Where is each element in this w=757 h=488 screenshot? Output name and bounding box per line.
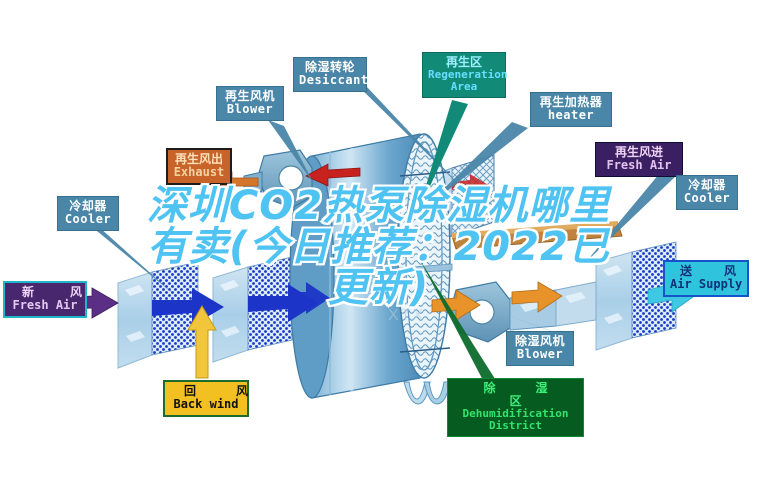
- label-regeneration-fresh-air-in: 再生风进 Fresh Air: [595, 142, 683, 177]
- label-regeneration-blower: 再生风机 Blower: [216, 86, 284, 121]
- label-cn: 回 风: [170, 385, 242, 398]
- label-cooler-right: 冷却器 Cooler: [676, 175, 738, 210]
- label-cn: 再生风出: [173, 153, 225, 166]
- label-cn: 再生加热器: [536, 96, 606, 109]
- label-dehumidification-district: 除 湿 区 Dehumidification District: [447, 378, 584, 437]
- label-en: Dehumidification District: [453, 408, 578, 432]
- label-en: Blower: [222, 103, 278, 116]
- label-desiccant-wheel: 除湿转轮 Desiccant: [293, 57, 367, 92]
- diagram-artwork: XTX: [0, 0, 757, 488]
- label-cn: 冷却器: [63, 200, 113, 213]
- label-cn: 除湿风机: [512, 335, 568, 348]
- label-en: Cooler: [63, 213, 113, 226]
- label-en: Cooler: [682, 192, 732, 205]
- label-cn: 除湿转轮: [299, 61, 361, 74]
- label-cn: 送 风: [670, 265, 742, 278]
- label-back-wind: 回 风 Back wind: [163, 380, 249, 417]
- label-en: Back wind: [170, 398, 242, 411]
- label-exhaust: 再生风出 Exhaust: [166, 148, 232, 185]
- dehumidifier-diagram: XTX 除湿转轮 Desiccant 再生风机 Blower 再生区 Regen…: [0, 0, 757, 488]
- label-en: Exhaust: [173, 166, 225, 179]
- label-en: heater: [536, 109, 606, 122]
- label-air-supply: 送 风 Air Supply: [663, 260, 749, 297]
- label-en: Air Supply: [670, 278, 742, 291]
- label-en: Fresh Air: [601, 159, 677, 172]
- label-en: Blower: [512, 348, 568, 361]
- label-cn: 新 风: [10, 286, 80, 299]
- label-cn: 冷却器: [682, 179, 732, 192]
- label-fresh-air-left: 新 风 Fresh Air: [3, 281, 87, 318]
- label-regeneration-area: 再生区 Regeneration Area: [422, 52, 506, 98]
- label-cn: 除 湿 区: [453, 382, 578, 408]
- label-en: Desiccant: [299, 74, 361, 87]
- svg-text:XTX: XTX: [388, 307, 425, 324]
- label-cn: 再生风进: [601, 146, 677, 159]
- label-en: Regeneration Area: [428, 69, 500, 93]
- label-cn: 再生区: [428, 56, 500, 69]
- label-cooler-left: 冷却器 Cooler: [57, 196, 119, 231]
- label-cn: 再生风机: [222, 90, 278, 103]
- label-regeneration-heater: 再生加热器 heater: [530, 92, 612, 127]
- label-en: Fresh Air: [10, 299, 80, 312]
- label-dehumidification-blower: 除湿风机 Blower: [506, 331, 574, 366]
